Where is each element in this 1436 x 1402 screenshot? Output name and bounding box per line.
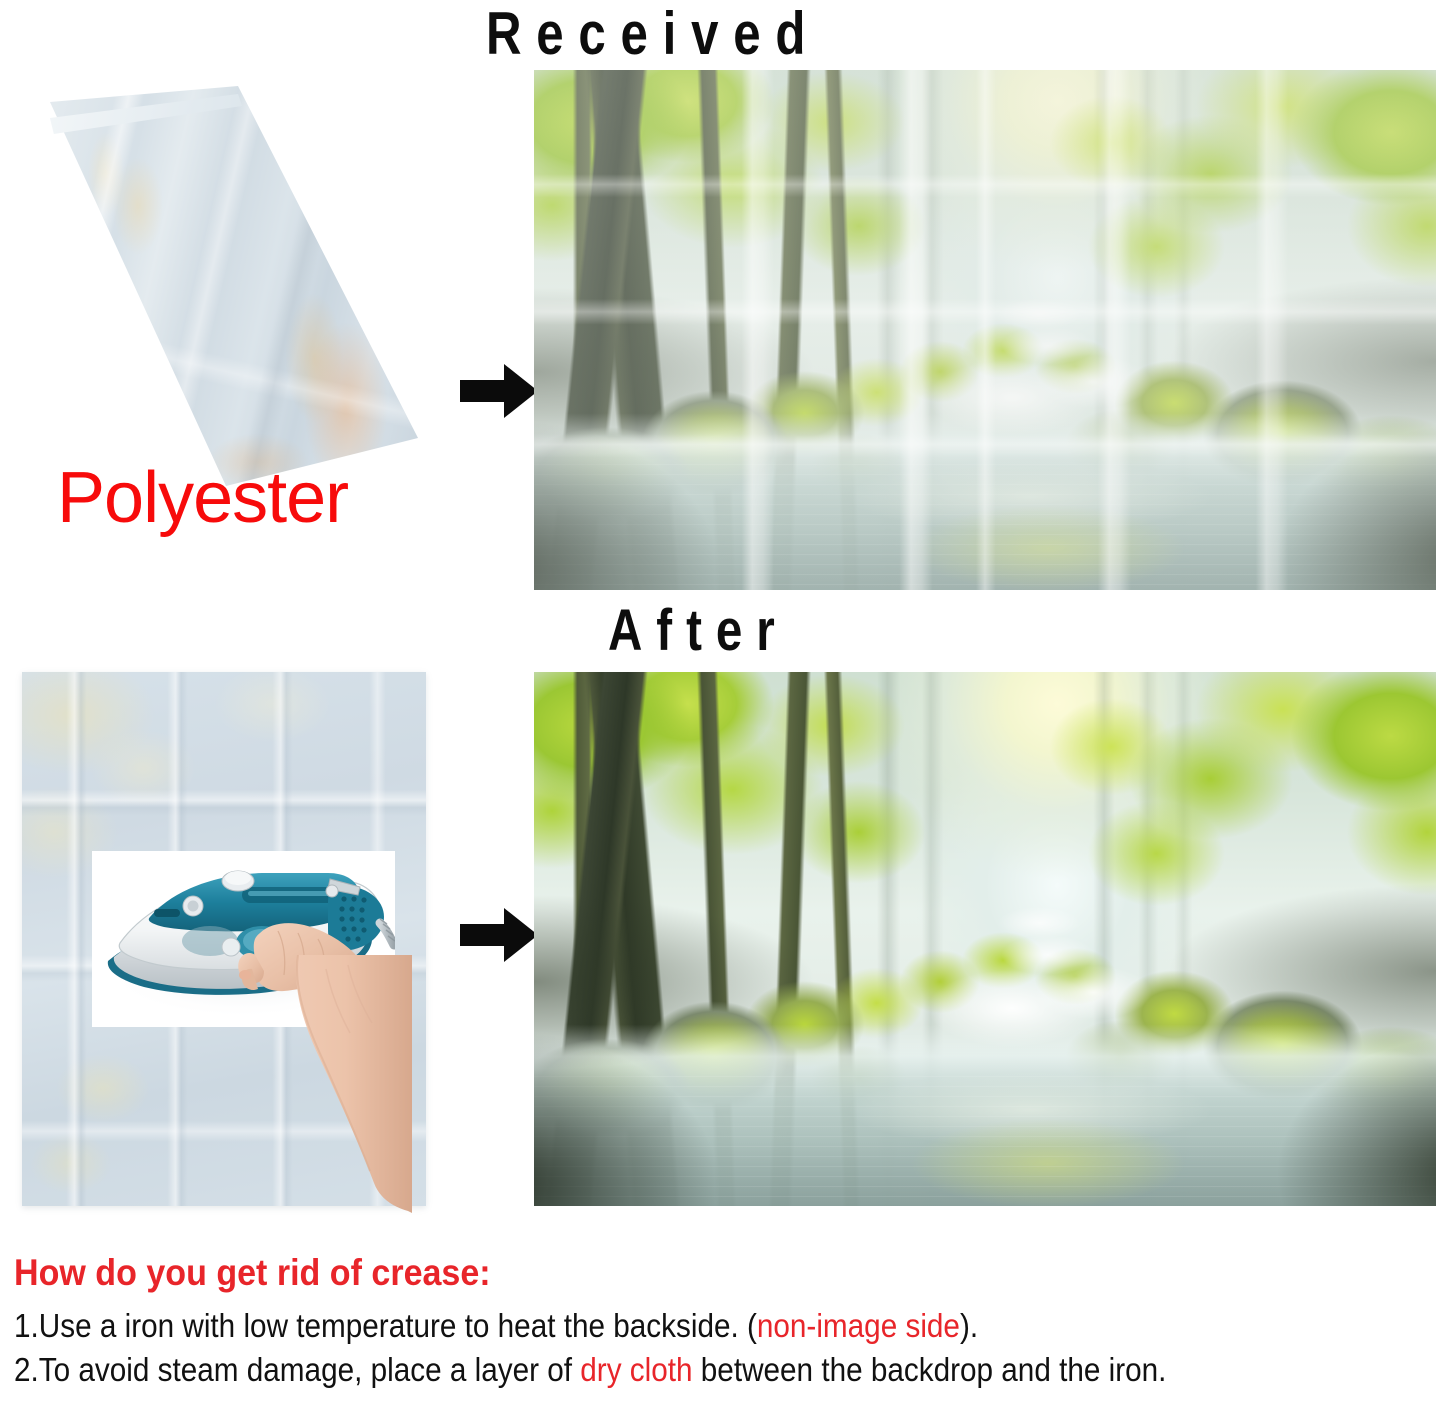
folded-polyester-fabric <box>18 86 418 486</box>
received-backdrop-photo <box>534 70 1436 590</box>
instructions-heading: How do you get rid of crease: <box>14 1252 1311 1295</box>
line1-part1: 1.Use a iron with low temperature to hea… <box>14 1307 757 1344</box>
scene-understory <box>534 672 1436 1206</box>
received-title: Received <box>486 4 820 64</box>
fabric-fold-lines <box>18 86 418 486</box>
line2-part2: between the backdrop and the iron. <box>693 1351 1167 1388</box>
hand-icon <box>262 955 412 1213</box>
right-arrow-icon <box>460 906 538 964</box>
line2-part1: 2.To avoid steam damage, place a layer o… <box>14 1351 580 1388</box>
instruction-line-1: 1.Use a iron with low temperature to hea… <box>14 1304 1283 1349</box>
instructions-block: How do you get rid of crease: 1.Use a ir… <box>14 1252 1424 1393</box>
after-backdrop-photo <box>534 672 1436 1206</box>
instruction-line-2: 2.To avoid steam damage, place a layer o… <box>14 1348 1283 1393</box>
crease-overlay <box>534 70 1436 590</box>
line1-highlight: non-image side <box>757 1307 960 1344</box>
line2-highlight: dry cloth <box>580 1351 692 1388</box>
line1-part2: ). <box>960 1307 978 1344</box>
right-arrow-icon <box>460 362 538 420</box>
after-title: After <box>608 602 789 660</box>
polyester-label: Polyester <box>57 462 348 534</box>
